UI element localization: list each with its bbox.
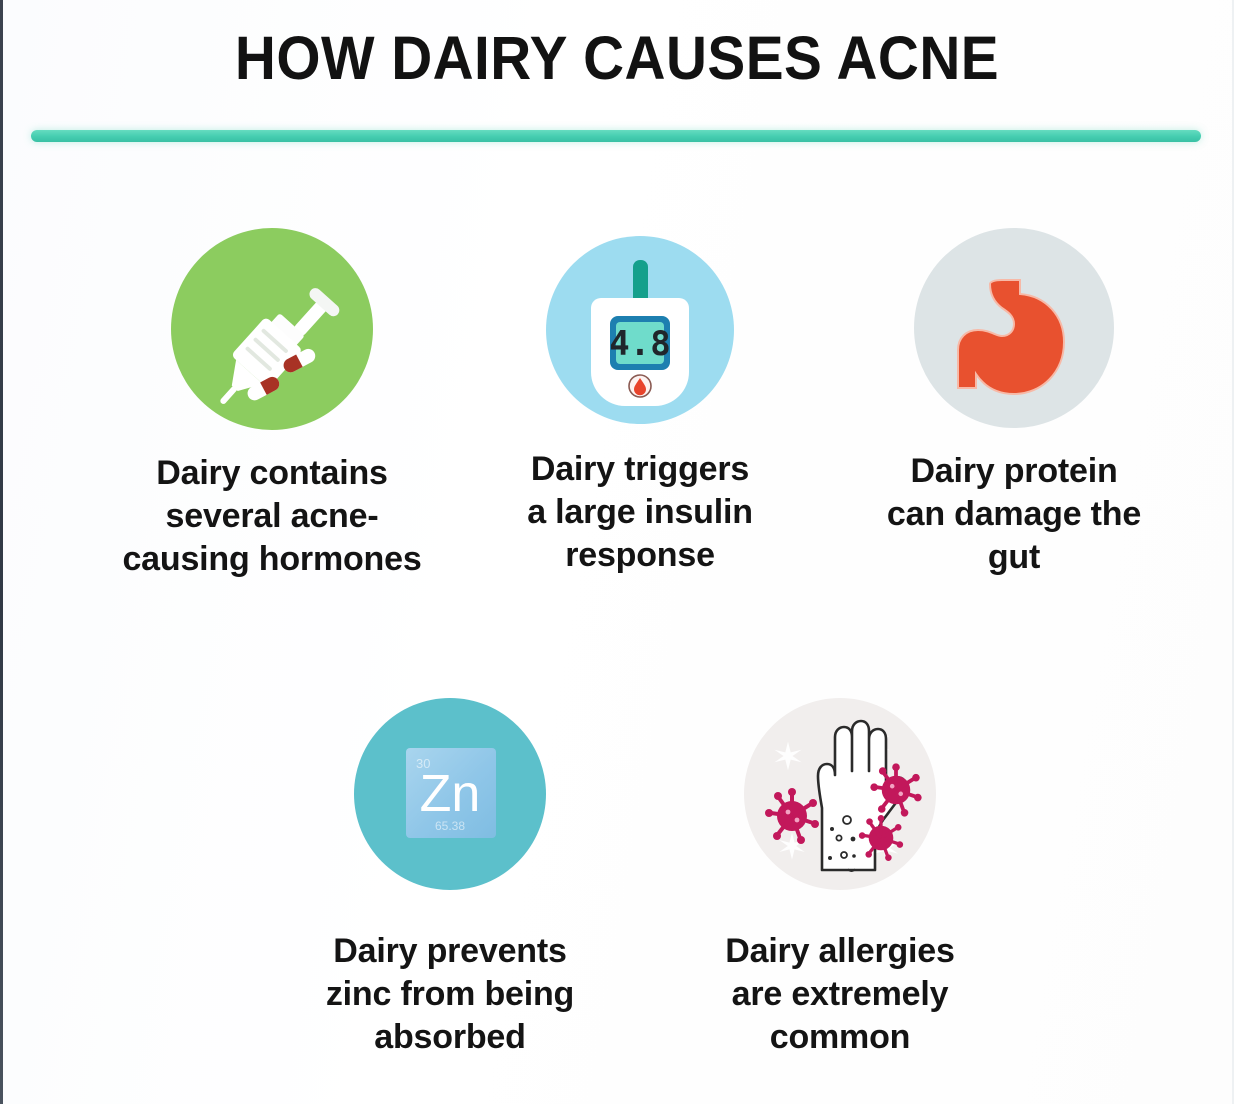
caption-line: absorbed [240, 1016, 660, 1059]
glucose-meter-icon: 4.8 [546, 236, 734, 424]
caption-line: Dairy prevents [240, 930, 660, 973]
caption-hormones: Dairy contains several acne- causing hor… [52, 452, 492, 580]
caption-line: several acne- [52, 495, 492, 538]
caption-line: Dairy protein [818, 450, 1210, 493]
caption-line: causing hormones [52, 538, 492, 581]
zinc-element-tile-icon: 30 Zn 65.38 [354, 698, 546, 890]
meter-reading: 4.8 [609, 324, 670, 364]
caption-line: can damage the [818, 493, 1210, 536]
card-hormones: Dairy contains several acne- causing hor… [52, 228, 492, 580]
card-gut: Dairy protein can damage the gut [818, 228, 1210, 578]
card-allergies: Dairy allergies are extremely common [655, 698, 1025, 1058]
icon-circle-hormones [171, 228, 373, 430]
icon-circle-gut [914, 228, 1114, 428]
syringe-and-pills-icon [171, 228, 373, 430]
title-divider-rule [31, 130, 1201, 142]
icon-circle-allergies [744, 698, 936, 890]
caption-line: gut [818, 536, 1210, 579]
icon-circle-zinc: 30 Zn 65.38 [354, 698, 546, 890]
page-title: HOW DAIRY CAUSES ACNE [43, 26, 1191, 90]
caption-line: a large insulin [470, 491, 810, 534]
caption-line: are extremely [655, 973, 1025, 1016]
card-insulin: 4.8 Dairy triggers a large insulin respo… [470, 228, 810, 576]
title-block: HOW DAIRY CAUSES ACNE [0, 26, 1234, 90]
caption-line: Dairy contains [52, 452, 492, 495]
caption-insulin: Dairy triggers a large insulin response [470, 448, 810, 576]
caption-line: Dairy allergies [655, 930, 1025, 973]
caption-zinc: Dairy prevents zinc from being absorbed [240, 930, 660, 1058]
icon-circle-insulin: 4.8 [546, 236, 734, 424]
caption-line: zinc from being [240, 973, 660, 1016]
card-zinc: 30 Zn 65.38 Dairy prevents zinc from bei… [240, 698, 660, 1058]
element-mass: 65.38 [435, 819, 465, 833]
caption-line: Dairy triggers [470, 448, 810, 491]
allergy-hand-rash-icon [744, 698, 936, 890]
caption-gut: Dairy protein can damage the gut [818, 450, 1210, 578]
caption-line: response [470, 534, 810, 577]
left-edge-border [0, 0, 3, 1104]
stomach-icon [914, 228, 1114, 428]
caption-line: common [655, 1016, 1025, 1059]
infographic-root: HOW DAIRY CAUSES ACNE [0, 0, 1234, 1104]
element-symbol: Zn [420, 765, 481, 823]
caption-allergies: Dairy allergies are extremely common [655, 930, 1025, 1058]
